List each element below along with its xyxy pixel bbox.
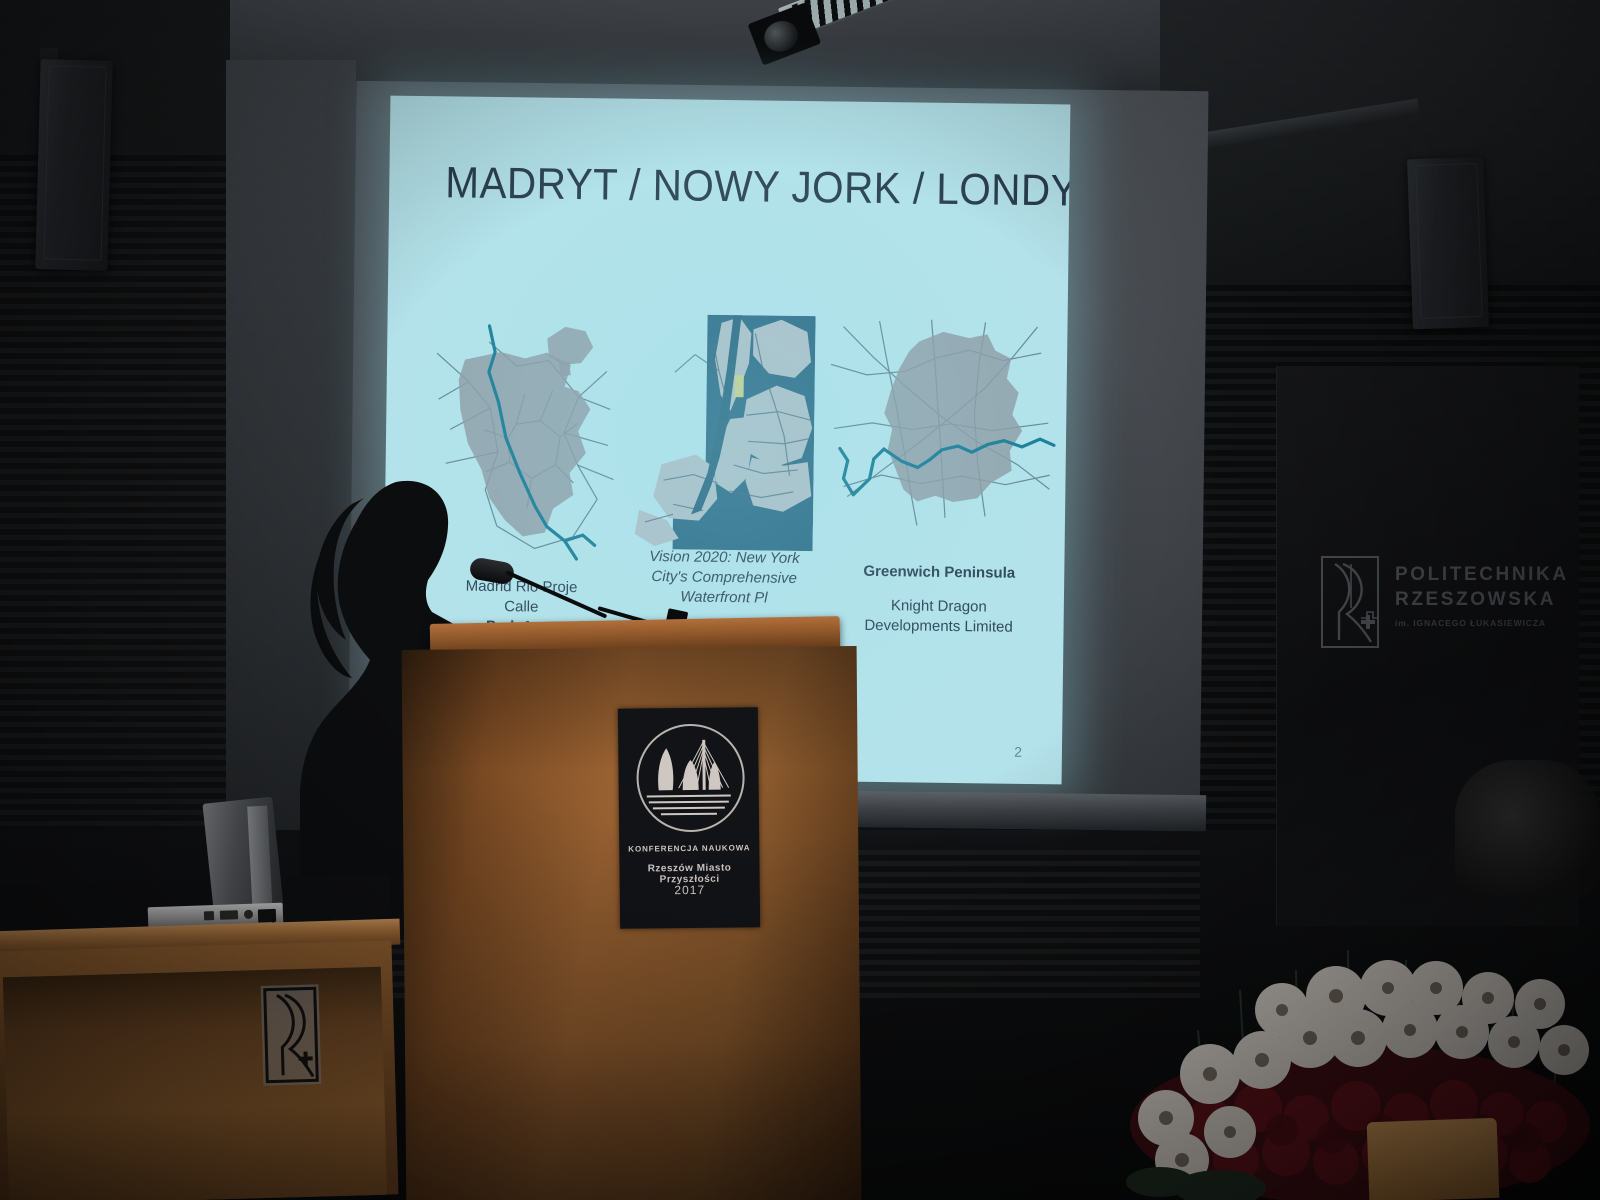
prz-monogram-icon — [1321, 556, 1379, 648]
wall-speaker-right — [1407, 157, 1489, 330]
speaker-grille-icon — [1415, 163, 1482, 319]
banner-line-2: RZESZOWSKA — [1395, 587, 1575, 612]
banner-subtitle: im. IGNACEGO ŁUKASIEWICZA — [1395, 618, 1575, 628]
caption-london: Greenwich Peninsula Knight Dragon Develo… — [823, 561, 1054, 638]
lecture-hall-photo: MADRYT / NOWY JORK / LONDYN — [0, 0, 1600, 1200]
slide-page-number: 2 — [1014, 744, 1022, 760]
floral-arrangement — [1090, 870, 1600, 1200]
caption-ny-line1: Vision 2020: New York — [624, 547, 824, 570]
front-desk-panel — [3, 967, 387, 1200]
conference-sign-line3: 2017 — [620, 882, 760, 897]
av-port-usb — [204, 911, 214, 920]
av-port-vga — [220, 910, 238, 920]
caption-london-line3: Developments Limited — [823, 615, 1053, 638]
av-port-audio — [244, 910, 253, 919]
prz-monogram-icon-desk — [261, 984, 322, 1086]
wall-speaker-left — [35, 59, 112, 271]
rzeszow-skyline-logo-icon — [636, 723, 745, 832]
right-upper-wall — [1160, 0, 1600, 300]
conference-sign-line1: KONFERENCJA NAUKOWA — [619, 843, 759, 853]
caption-new-york: Vision 2020: New York City's Comprehensi… — [624, 547, 825, 610]
slide-title: MADRYT / NOWY JORK / LONDYN — [445, 158, 998, 215]
banner-line-1: POLITECHNIKA — [1395, 562, 1575, 587]
caption-ny-line3: Waterfront Pl — [624, 587, 824, 610]
chair-back — [1367, 1118, 1500, 1200]
caption-ny-line2: City's Comprehensive — [624, 567, 824, 590]
map-london — [825, 316, 1058, 529]
conference-sign: KONFERENCJA NAUKOWA Rzeszów Miasto Przys… — [618, 707, 760, 928]
speaker-grille-icon — [44, 65, 107, 260]
banner-text-block: POLITECHNIKA RZESZOWSKA im. IGNACEGO ŁUK… — [1395, 562, 1575, 628]
map-new-york — [633, 314, 816, 546]
